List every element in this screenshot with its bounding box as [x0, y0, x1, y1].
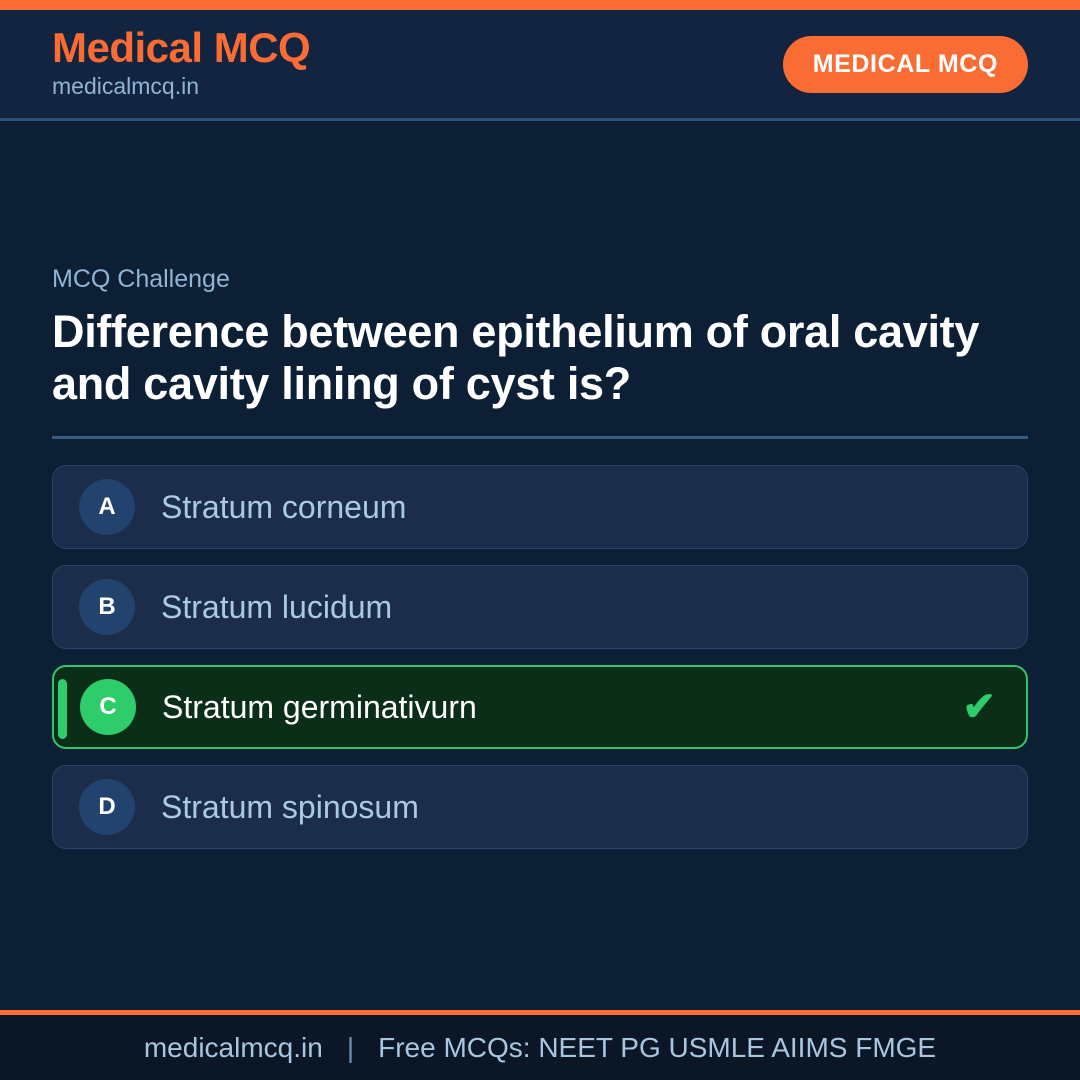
option-text-c: Stratum germinativurn	[162, 690, 477, 725]
footer-tags: Free MCQs: NEET PG USMLE AIIMS FMGE	[378, 1032, 936, 1064]
option-text-d: Stratum spinosum	[161, 790, 419, 825]
brand-block[interactable]: Medical MCQ medicalmcq.in	[52, 26, 310, 102]
option-letter-badge-d: D	[79, 779, 135, 835]
brand-pill-badge[interactable]: MEDICAL MCQ	[783, 36, 1028, 93]
option-text-b: Stratum lucidum	[161, 590, 392, 625]
question-block: MCQ Challenge Difference between epithel…	[52, 264, 1028, 849]
option-letter-badge-a: A	[79, 479, 135, 535]
brand-title: Medical MCQ	[52, 26, 310, 70]
option-letter-badge-c: C	[80, 679, 136, 735]
option-row-c[interactable]: C Stratum germinativurn ✔	[52, 665, 1028, 749]
footer-separator: |	[347, 1032, 354, 1064]
option-row-b[interactable]: B Stratum lucidum	[52, 565, 1028, 649]
option-text-a: Stratum corneum	[161, 490, 406, 525]
top-accent-bar	[0, 0, 1080, 10]
page-footer: medicalmcq.in | Free MCQs: NEET PG USMLE…	[0, 1015, 1080, 1080]
question-title: Difference between epithelium of oral ca…	[52, 306, 1028, 410]
question-divider	[52, 436, 1028, 439]
correct-check-icon: ✔	[962, 687, 1000, 727]
correct-accent-bar	[58, 679, 67, 739]
main-stage: MCQ Challenge Difference between epithel…	[0, 124, 1080, 1010]
option-row-a[interactable]: A Stratum corneum	[52, 465, 1028, 549]
page-header: Medical MCQ medicalmcq.in MEDICAL MCQ	[0, 10, 1080, 121]
eyebrow-label: MCQ Challenge	[52, 264, 1028, 294]
option-row-d[interactable]: D Stratum spinosum	[52, 765, 1028, 849]
options-list: A Stratum corneum B Stratum lucidum C St…	[52, 465, 1028, 849]
option-letter-badge-b: B	[79, 579, 135, 635]
brand-subtitle: medicalmcq.in	[52, 72, 310, 102]
footer-site-link[interactable]: medicalmcq.in	[144, 1032, 323, 1064]
